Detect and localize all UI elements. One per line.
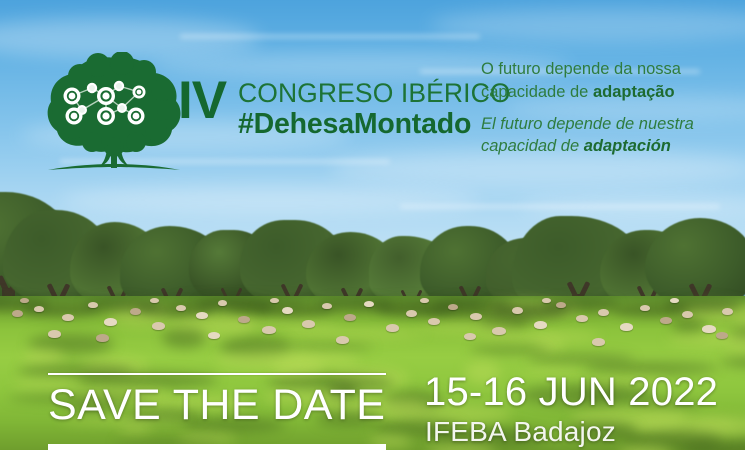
grazing-sheep	[620, 323, 633, 331]
grass-texture-patch	[283, 329, 424, 338]
grazing-sheep	[670, 298, 679, 303]
grazing-sheep	[12, 310, 23, 317]
roman-numeral: IV	[178, 74, 226, 127]
grazing-sheep	[702, 325, 716, 333]
grazing-sheep	[542, 298, 551, 303]
grass-texture-patch	[18, 364, 134, 378]
grazing-sheep	[386, 324, 399, 332]
grazing-sheep	[492, 327, 506, 335]
grazing-sheep	[302, 320, 315, 328]
cloud-streak	[180, 35, 480, 38]
grazing-sheep	[448, 304, 458, 310]
grass-texture-patch	[720, 356, 745, 368]
grazing-sheep	[88, 302, 98, 308]
grazing-sheep	[62, 314, 74, 321]
grazing-sheep	[534, 321, 547, 329]
grazing-sheep	[218, 300, 227, 306]
tagline-spanish: El futuro depende de nuestra capacidad d…	[481, 113, 731, 159]
grass-texture-patch	[528, 354, 634, 364]
grazing-sheep	[640, 305, 650, 311]
congress-hashtag: #DehesaMontado	[238, 109, 511, 140]
tagline-pt-highlight: adaptação	[593, 83, 675, 101]
save-the-date-text: SAVE THE DATE	[48, 384, 408, 427]
grass-texture-patch	[278, 344, 374, 350]
grazing-sheep	[270, 298, 279, 303]
grazing-sheep	[364, 301, 374, 307]
grazing-sheep	[322, 303, 332, 309]
grazing-sheep	[464, 333, 476, 340]
grazing-sheep	[420, 298, 429, 303]
grazing-sheep	[592, 338, 605, 346]
tree-network-logo	[44, 52, 184, 177]
tagline-block: O futuro depende da nossa capacidade de …	[481, 58, 731, 158]
grazing-sheep	[262, 326, 276, 334]
grass-texture-patch	[667, 333, 745, 346]
grazing-sheep	[20, 298, 29, 303]
event-venue: IFEBA Badajoz	[425, 418, 616, 446]
grazing-sheep	[150, 298, 159, 303]
event-dates: 15-16 JUN 2022	[424, 372, 718, 412]
tagline-es-highlight: adaptación	[584, 137, 671, 155]
grass-texture-patch	[215, 351, 360, 370]
grazing-sheep	[34, 306, 44, 312]
grazing-sheep	[196, 312, 208, 319]
grass-texture-patch	[672, 318, 706, 334]
grazing-sheep	[282, 307, 293, 314]
grazing-sheep	[406, 310, 417, 317]
grass-texture-patch	[470, 346, 550, 354]
grazing-sheep	[208, 332, 220, 339]
grazing-sheep	[96, 334, 109, 342]
divider-rule-bottom	[48, 444, 386, 450]
grazing-sheep	[556, 302, 566, 308]
grazing-sheep	[576, 315, 588, 322]
grazing-sheep	[598, 309, 609, 316]
grazing-sheep	[130, 308, 141, 315]
grazing-sheep	[104, 318, 117, 326]
divider-rule-top	[48, 373, 386, 375]
grazing-sheep	[176, 305, 186, 311]
tagline-portuguese: O futuro depende da nossa capacidade de …	[481, 58, 731, 104]
grazing-sheep	[716, 332, 728, 339]
grazing-sheep	[238, 316, 250, 323]
grazing-sheep	[48, 330, 61, 338]
grazing-sheep	[336, 336, 349, 344]
grazing-sheep	[344, 314, 356, 321]
grazing-sheep	[682, 311, 693, 318]
grass-texture-patch	[162, 328, 206, 348]
poster-canvas: IV CONGRESO IBÉRICO #DehesaMontado O fut…	[0, 0, 745, 450]
grazing-sheep	[660, 317, 672, 324]
congress-name: CONGRESO IBÉRICO	[238, 80, 511, 108]
grazing-sheep	[470, 313, 482, 320]
grazing-sheep	[512, 307, 523, 314]
grazing-sheep	[152, 322, 165, 330]
grazing-sheep	[428, 318, 440, 325]
grazing-sheep	[722, 308, 733, 315]
